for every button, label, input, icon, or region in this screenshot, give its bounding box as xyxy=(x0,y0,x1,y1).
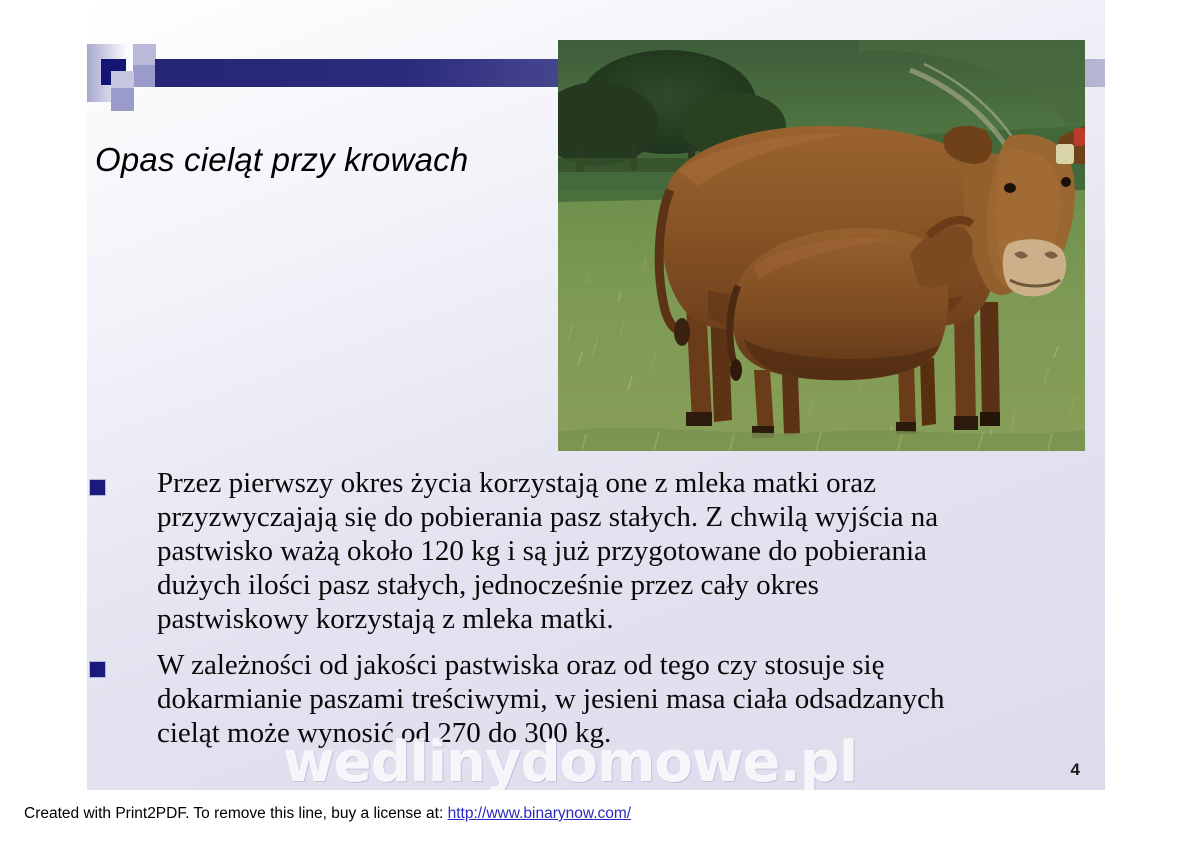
binarynow-link[interactable]: http://www.binarynow.com/ xyxy=(448,805,632,822)
bullet-list: Przez pierwszy okres życia korzystają on… xyxy=(87,466,1105,762)
print2pdf-footer: Created with Print2PDF. To remove this l… xyxy=(24,805,631,823)
square-bullet-icon xyxy=(90,480,105,495)
footer-text: Created with Print2PDF. To remove this l… xyxy=(24,805,448,822)
light-square-icon-d xyxy=(111,88,134,111)
photo-illustration xyxy=(558,40,1085,451)
square-bullet-icon xyxy=(90,662,105,677)
cow-and-calf-photo xyxy=(558,40,1085,451)
light-square-icon-b xyxy=(133,65,156,87)
list-item: W zależności od jakości pastwiska oraz o… xyxy=(87,648,1105,750)
list-item-text: W zależności od jakości pastwiska oraz o… xyxy=(157,648,957,750)
slide-canvas: Opas cieląt przy krowach xyxy=(87,0,1105,790)
page-number: 4 xyxy=(1071,760,1080,780)
list-item: Przez pierwszy okres życia korzystają on… xyxy=(87,466,1105,636)
light-square-icon-a xyxy=(133,44,156,66)
list-item-text: Przez pierwszy okres życia korzystają on… xyxy=(157,466,957,636)
